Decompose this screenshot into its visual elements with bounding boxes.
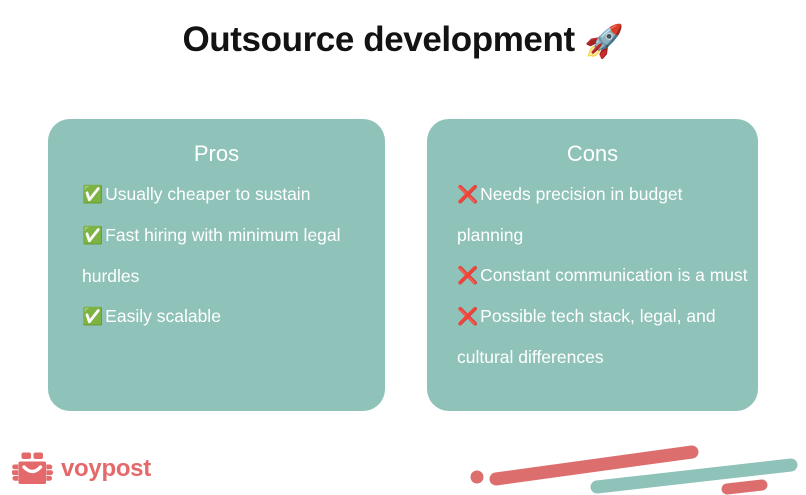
white-check-mark-icon: ✅ [82,226,103,245]
voypost-logo: voypost [12,452,151,486]
list-item: ❌Possible tech stack, legal, and cultura… [457,296,748,377]
list-item-label: Usually cheaper to sustain [105,184,310,204]
list-item: ✅Fast hiring with minimum legal hurdles [82,215,371,296]
pros-card-title: Pros [48,142,385,166]
cons-list: ❌Needs precision in budget planning ❌Con… [427,174,758,377]
list-item: ❌Needs precision in budget planning [457,174,748,255]
list-item: ✅Easily scalable [82,296,371,337]
list-item: ✅Usually cheaper to sustain [82,174,371,215]
pros-card: Pros ✅Usually cheaper to sustain ✅Fast h… [48,119,385,411]
cross-mark-icon: ❌ [457,185,478,204]
rocket-icon: 🚀 [584,23,623,59]
voypost-package-hands-icon [12,452,54,486]
page-title-text: Outsource development [182,20,574,59]
decor-short-red-bar [727,485,762,489]
list-item-label: Constant communication is a must [480,265,747,285]
pros-list: ✅Usually cheaper to sustain ✅Fast hiring… [48,174,385,337]
page-title: Outsource development 🚀 [0,20,806,60]
cons-card: Cons ❌Needs precision in budget planning… [427,119,758,411]
list-item-label: Needs precision in budget planning [457,184,683,245]
list-item: ❌Constant communication is a must [457,255,748,296]
list-item-label: Easily scalable [105,306,221,326]
list-item-label: Fast hiring with minimum legal hurdles [82,225,341,286]
white-check-mark-icon: ✅ [82,307,103,326]
cross-mark-icon: ❌ [457,307,478,326]
white-check-mark-icon: ✅ [82,185,103,204]
list-item-label: Possible tech stack, legal, and cultural… [457,306,716,367]
cons-card-title: Cons [427,142,758,166]
voypost-wordmark: voypost [61,457,151,481]
slide-canvas: Outsource development 🚀 Pros ✅Usually ch… [0,0,806,495]
decor-dot [471,471,484,484]
cross-mark-icon: ❌ [457,266,478,285]
